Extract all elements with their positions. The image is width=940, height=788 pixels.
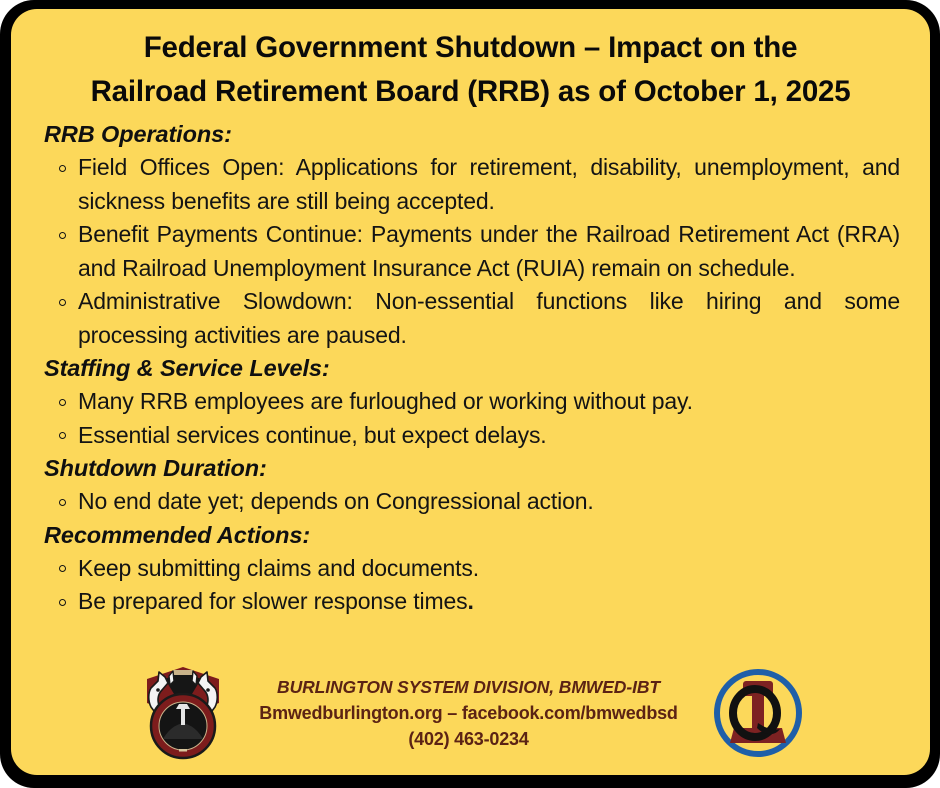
emphasis-period: . — [467, 588, 473, 614]
list-item: Essential services continue, but expect … — [35, 419, 906, 453]
section-heading: Staffing & Service Levels: — [44, 352, 906, 384]
list-item: Many RRB employees are furloughed or wor… — [35, 385, 906, 419]
poster-frame: Federal Government Shutdown – Impact on … — [0, 0, 940, 788]
page-title: Federal Government Shutdown – Impact on … — [11, 9, 930, 114]
section-heading: Recommended Actions: — [44, 519, 906, 551]
bnsf-q-emblem-icon — [704, 661, 812, 765]
section-heading: RRB Operations: — [44, 118, 906, 150]
list-item: Be prepared for slower response times. — [35, 585, 906, 619]
section-recommended-actions: Recommended Actions: Keep submitting cla… — [35, 519, 906, 619]
section-staffing-service-levels: Staffing & Service Levels: Many RRB empl… — [35, 352, 906, 452]
list-item-text: Be prepared for slower response times — [78, 588, 467, 614]
bullet-list: No end date yet; depends on Congressiona… — [35, 485, 906, 519]
footer: BURLINGTON SYSTEM DIVISION, BMWED-IBT Bm… — [11, 659, 930, 767]
poster-card: Federal Government Shutdown – Impact on … — [11, 9, 930, 775]
bullet-list: Many RRB employees are furloughed or wor… — [35, 385, 906, 452]
bullet-list: Field Offices Open: Applications for ret… — [35, 151, 906, 352]
footer-organization: BURLINGTON SYSTEM DIVISION, BMWED-IBT — [259, 675, 677, 700]
content-body: RRB Operations: Field Offices Open: Appl… — [11, 114, 930, 619]
footer-contact-block: BURLINGTON SYSTEM DIVISION, BMWED-IBT Bm… — [243, 675, 693, 752]
list-item: Field Offices Open: Applications for ret… — [35, 151, 906, 218]
footer-web-links[interactable]: Bmwedburlington.org – facebook.com/bmwed… — [259, 700, 677, 726]
section-heading: Shutdown Duration: — [44, 452, 906, 484]
footer-phone[interactable]: (402) 463-0234 — [259, 726, 677, 752]
list-item: Keep submitting claims and documents. — [35, 552, 906, 586]
bmwed-horses-emblem-icon — [129, 661, 237, 765]
section-rrb-operations: RRB Operations: Field Offices Open: Appl… — [35, 118, 906, 352]
section-shutdown-duration: Shutdown Duration: No end date yet; depe… — [35, 452, 906, 519]
list-item: Administrative Slowdown: Non-essential f… — [35, 285, 906, 352]
bullet-list: Keep submitting claims and documents. Be… — [35, 552, 906, 619]
title-line-1: Federal Government Shutdown – Impact on … — [41, 26, 900, 70]
list-item: No end date yet; depends on Congressiona… — [35, 485, 906, 519]
title-line-2: Railroad Retirement Board (RRB) as of Oc… — [41, 70, 900, 114]
list-item: Benefit Payments Continue: Payments unde… — [35, 218, 906, 285]
